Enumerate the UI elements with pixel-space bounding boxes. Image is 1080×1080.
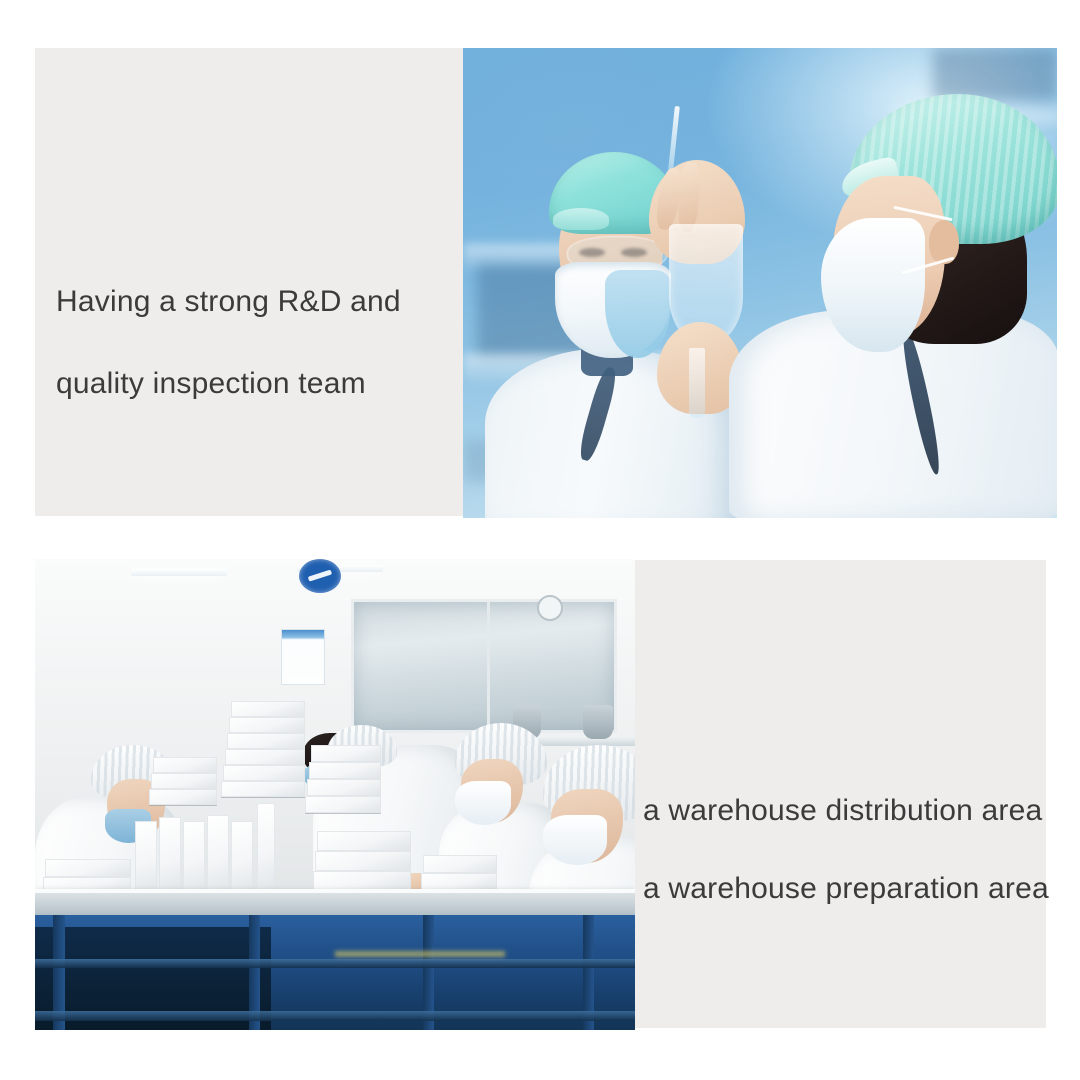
warehouse-floor-stripe [335,951,505,957]
warehouse-box-stack-rear-a [231,701,305,717]
warehouse-scene [35,559,635,1030]
warehouse-flat-box-c [313,871,411,891]
warehouse-box-stack-left-a [153,757,217,773]
warehouse-box-stack-rear-d [225,749,305,765]
warehouse-wall-poster [281,629,325,685]
warehouse-flat-box-d [423,855,497,873]
warehouse-box-stack-rear-c [227,733,305,749]
warehouse-flat-box-b [315,851,411,871]
lab-cabinet-dark-top [933,48,1057,100]
lab-technician-right-ear [929,220,959,264]
warehouse-carton-upright-e [231,821,253,895]
warehouse-box-stack-mid-d [305,796,381,813]
lab-test-tube [689,348,705,418]
rnd-caption-line-2: quality inspection team [56,363,476,404]
warehouse-box-stack-mid-a [311,745,381,762]
warehouse-carton-upright-c [183,821,205,895]
warehouse-caption-line-2: a warehouse preparation area [643,869,1063,908]
warehouse-carton-upright-b [159,817,181,895]
slide-canvas: Having a strong R&D and quality inspecti… [0,0,1080,1080]
warehouse-ceiling-light-a [131,569,227,576]
warehouse-flat-box-a [317,831,411,851]
lab-scene [463,48,1057,518]
warehouse-box-stack-rear-f [221,781,305,797]
warehouse-packing-photo [35,559,635,1030]
warehouse-box-stack-rear-b [229,717,305,733]
warehouse-carton-upright-a [135,821,157,895]
warehouse-circular-sign [299,559,341,593]
warehouse-pot-b [583,705,613,739]
rnd-caption-line-1: Having a strong R&D and [56,281,476,322]
warehouse-interior-window [351,599,617,733]
warehouse-flat-box-f [45,859,131,877]
warehouse-carton-upright-d [207,815,229,895]
warehouse-table-rail-lower [35,1011,635,1021]
warehouse-caption-line-1: a warehouse distribution area [643,791,1063,830]
warehouse-worker-3-mask [455,781,511,825]
warehouse-table-edge-highlight [35,889,635,893]
rnd-caption: Having a strong R&D and quality inspecti… [56,240,476,445]
warehouse-box-stack-left-b [151,773,217,789]
warehouse-box-stack-left-c [149,789,217,805]
warehouse-caption: a warehouse distribution area a warehous… [643,752,1063,947]
lab-technician-left-cap-brim [553,208,609,230]
warehouse-box-stack-mid-b [309,762,381,779]
warehouse-wall-clock [537,595,563,621]
warehouse-box-stack-rear-e [223,765,305,781]
warehouse-table-rail-upper [35,959,635,968]
lab-quality-inspection-photo [463,48,1057,518]
warehouse-box-stack-mid-c [307,779,381,796]
warehouse-carton-bottle [257,803,275,895]
warehouse-window-mullion [487,601,490,725]
